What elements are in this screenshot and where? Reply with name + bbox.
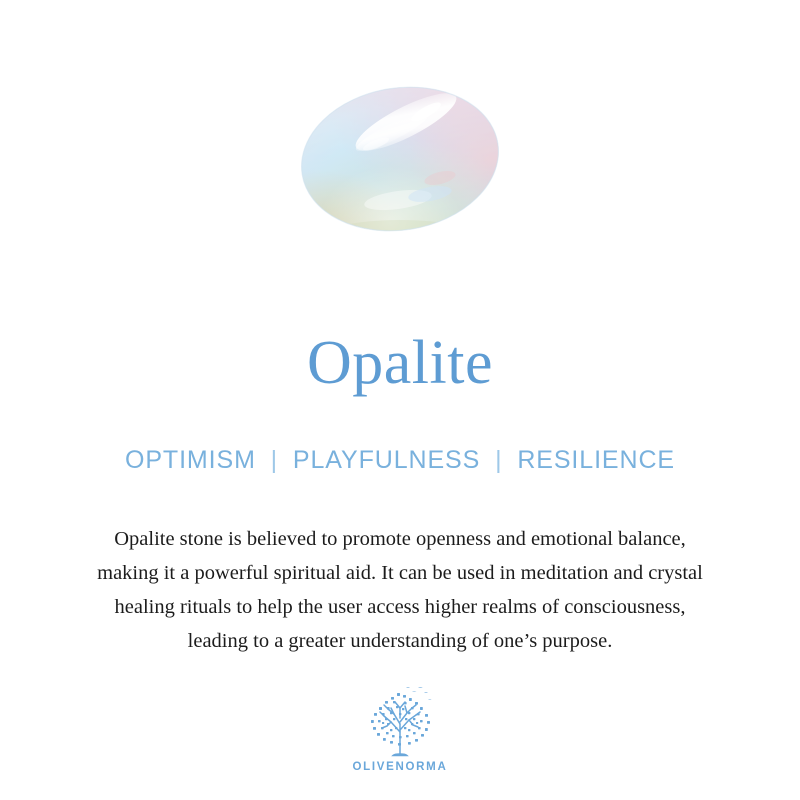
- description-line-1: Opalite stone is believed to promote ope…: [20, 522, 780, 556]
- gemstone-image-container: [0, 60, 800, 250]
- keyword-separator-2: |: [488, 446, 509, 474]
- tree-of-life-icon: [360, 684, 440, 760]
- description-text: Opalite stone is believed to promote ope…: [20, 522, 780, 658]
- keyword-list: OPTIMISM | PLAYFULNESS | RESILIENCE: [0, 446, 800, 475]
- keyword-optimism: OPTIMISM: [125, 446, 256, 474]
- page-title: Opalite: [0, 332, 800, 394]
- description-line-4: leading to a greater understanding of on…: [20, 624, 780, 658]
- keyword-playfulness: PLAYFULNESS: [293, 446, 480, 474]
- description-line-2: making it a powerful spiritual aid. It c…: [20, 556, 780, 590]
- keyword-resilience: RESILIENCE: [517, 446, 675, 474]
- opalite-gemstone-icon: [280, 60, 520, 250]
- description-line-3: healing rituals to help the user access …: [20, 590, 780, 624]
- brand-logo[interactable]: OLIVENORMA: [0, 684, 800, 773]
- keyword-separator-1: |: [264, 446, 285, 474]
- brand-wordmark: OLIVENORMA: [0, 761, 800, 773]
- poster-canvas: Opalite OPTIMISM | PLAYFULNESS | RESILIE…: [0, 0, 800, 800]
